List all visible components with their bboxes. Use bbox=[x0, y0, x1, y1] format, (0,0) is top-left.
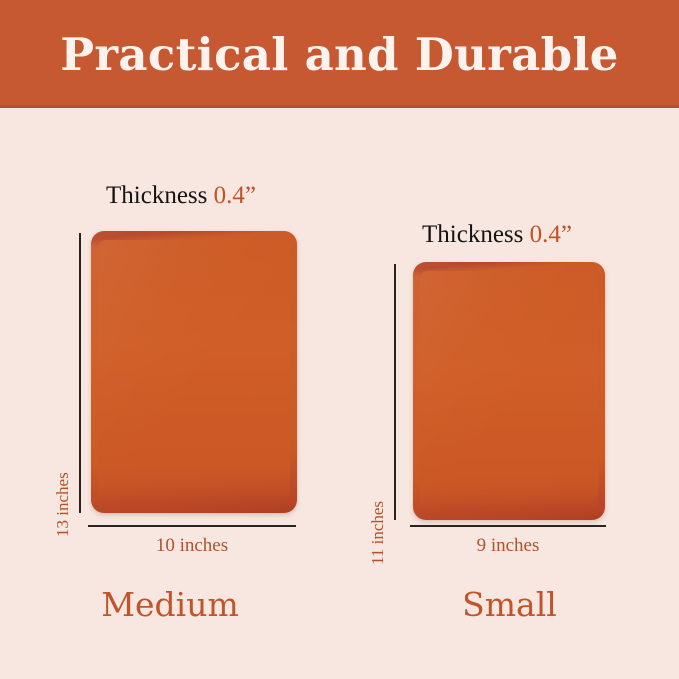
thickness-label-medium: Thickness bbox=[106, 182, 207, 209]
size-name-medium: Medium bbox=[0, 588, 340, 621]
tray-shape-medium bbox=[91, 231, 297, 513]
infographic-page: Practical and Durable Thickness 0.4” 13 … bbox=[0, 0, 679, 679]
size-name-small: Small bbox=[340, 588, 679, 621]
height-measure-line-medium bbox=[79, 233, 81, 513]
product-medium: Thickness 0.4” 13 inches 10 inches Mediu… bbox=[0, 108, 340, 679]
thickness-label-small: Thickness bbox=[422, 221, 523, 248]
height-measure-label-medium: 13 inches bbox=[54, 472, 71, 537]
width-measure-label-medium: 10 inches bbox=[88, 536, 296, 555]
width-measure-label-small: 9 inches bbox=[410, 536, 606, 555]
height-measure-line-small bbox=[394, 264, 396, 520]
width-measure-line-medium bbox=[88, 525, 296, 527]
tray-shape-small bbox=[413, 262, 605, 520]
thickness-value-medium: 0.4” bbox=[214, 182, 256, 209]
height-measure-label-small: 11 inches bbox=[369, 501, 386, 565]
thickness-caption-medium: Thickness 0.4” bbox=[106, 183, 256, 208]
product-small: Thickness 0.4” 11 inches 9 inches Small bbox=[340, 108, 679, 679]
page-title: Practical and Durable bbox=[60, 32, 618, 77]
thickness-value-small: 0.4” bbox=[530, 221, 572, 248]
header-banner: Practical and Durable bbox=[0, 0, 679, 108]
width-measure-line-small bbox=[410, 525, 606, 527]
thickness-caption-small: Thickness 0.4” bbox=[422, 222, 572, 247]
